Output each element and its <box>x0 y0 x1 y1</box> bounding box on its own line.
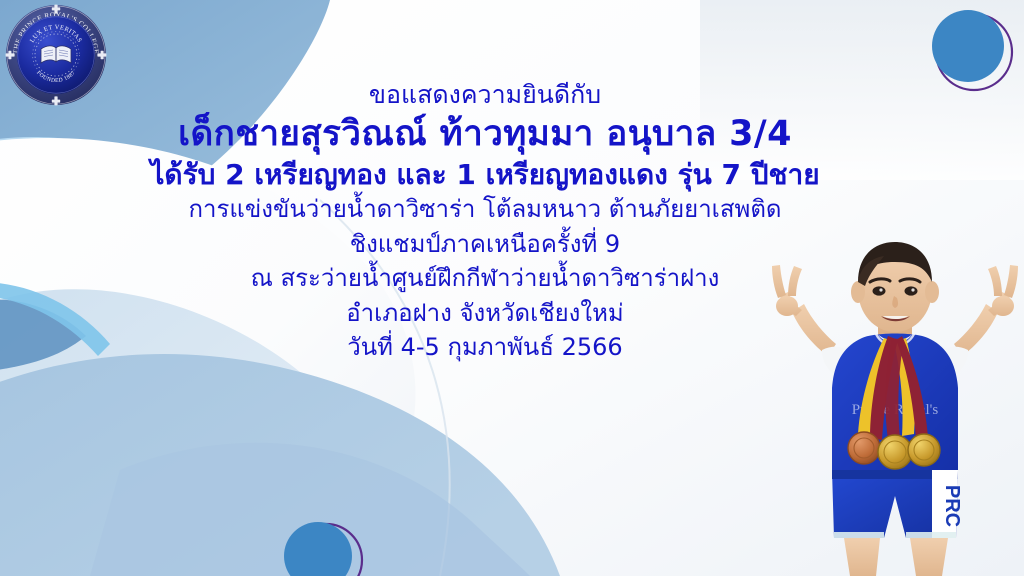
crest-open-book-icon <box>41 46 71 63</box>
congratulations-text-block: ขอแสดงความยินดีกับ เด็กชายสุรวิณณ์ ท้าวท… <box>105 82 865 360</box>
student-name-line: เด็กชายสุรวิณณ์ ท้าวทุมมา อนุบาล 3/4 <box>105 116 865 153</box>
medal-gold-1 <box>878 435 912 469</box>
venue-line: ณ สระว่ายน้ำศูนย์ฝึกกีฬาว่ายน้ำดาวิซาร่า… <box>105 266 865 291</box>
medal-bronze <box>848 432 880 464</box>
greeting-line: ขอแสดงความยินดีกับ <box>105 82 865 109</box>
district-line: อำเภอฝาง จังหวัดเชียงใหม่ <box>105 301 865 326</box>
awards-line: ได้รับ 2 เหรียญทอง และ 1 เหรียญทองแดง รุ… <box>105 160 865 190</box>
championship-line: ชิงแชมป์ภาคเหนือครั้งที่ 9 <box>105 232 865 257</box>
top-right-accent-circle <box>932 10 1004 82</box>
prince-royals-college-crest: THE PRINCE ROYAL'S COLLEGE CHIANG MAI 19… <box>4 3 108 107</box>
medal-gold-2 <box>908 434 940 466</box>
date-line: วันที่ 4-5 กุมภาพันธ์ 2566 <box>105 335 865 360</box>
shorts-prc-text: PRC <box>941 485 963 527</box>
congratulations-poster: THE PRINCE ROYAL'S COLLEGE CHIANG MAI 19… <box>0 0 1024 576</box>
event-name-line: การแข่งขันว่ายน้ำดาวิซาร่า โต้ลมหนาว ต้า… <box>105 197 865 222</box>
